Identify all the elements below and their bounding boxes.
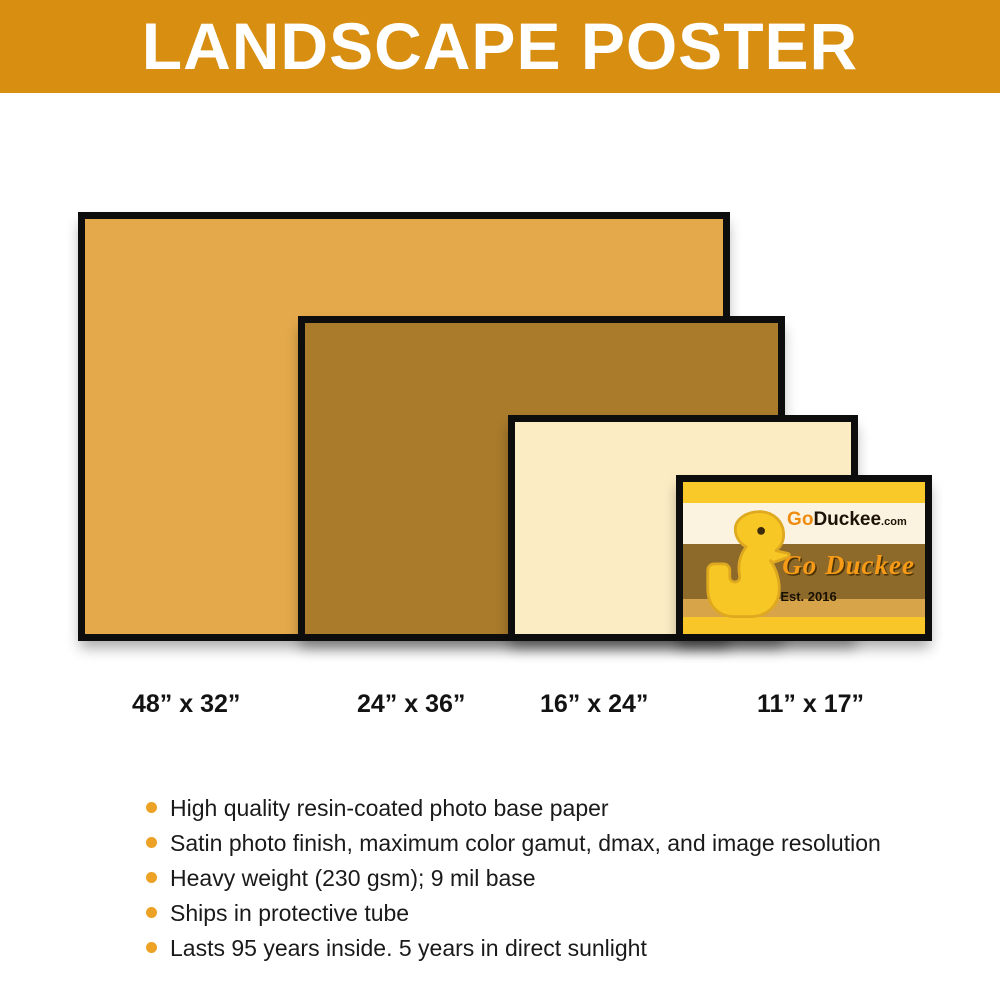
size-label-16x24: 16” x 24” xyxy=(540,690,648,719)
logo-duckee-text: Duckee xyxy=(813,509,881,530)
list-item: Heavy weight (230 gsm); 9 mil base xyxy=(146,863,946,893)
poster-11x17[interactable]: GoDuckee.com Go Duckee Est. 2016 xyxy=(676,475,932,641)
size-label-48x32: 48” x 32” xyxy=(132,690,240,719)
feature-text: Ships in protective tube xyxy=(170,898,409,928)
feature-list: High quality resin-coated photo base pap… xyxy=(146,793,946,968)
header-banner: LANDSCAPE POSTER xyxy=(0,0,1000,93)
feature-text: Heavy weight (230 gsm); 9 mil base xyxy=(170,863,536,893)
list-item: Ships in protective tube xyxy=(146,898,946,928)
bullet-icon xyxy=(146,907,157,918)
goduckee-logo: GoDuckee.com Go Duckee Est. 2016 xyxy=(683,482,925,634)
feature-text: Satin photo finish, maximum color gamut,… xyxy=(170,828,881,858)
list-item: Lasts 95 years inside. 5 years in direct… xyxy=(146,933,946,963)
size-label-11x17: 11” x 17” xyxy=(757,690,864,719)
feature-text: Lasts 95 years inside. 5 years in direct… xyxy=(170,933,647,963)
size-label-row: 48” x 32” 24” x 36” 16” x 24” 11” x 17” xyxy=(0,690,1000,730)
bullet-icon xyxy=(146,802,157,813)
feature-text: High quality resin-coated photo base pap… xyxy=(170,793,609,823)
logo-band-top-gold xyxy=(683,482,925,503)
logo-wordmark: GoDuckee.com xyxy=(787,510,907,529)
size-label-24x36: 24” x 36” xyxy=(357,690,465,719)
bullet-icon xyxy=(146,872,157,883)
bullet-icon xyxy=(146,837,157,848)
logo-script-text: Go Duckee xyxy=(782,550,915,581)
list-item: High quality resin-coated photo base pap… xyxy=(146,793,946,823)
poster-size-comparison: GoDuckee.com Go Duckee Est. 2016 xyxy=(0,93,1000,713)
logo-established-text: Est. 2016 xyxy=(780,589,836,604)
logo-tld-text: .com xyxy=(881,516,907,528)
page-title: LANDSCAPE POSTER xyxy=(142,13,858,79)
bullet-icon xyxy=(146,942,157,953)
list-item: Satin photo finish, maximum color gamut,… xyxy=(146,828,946,858)
logo-go-text: Go xyxy=(787,509,813,530)
